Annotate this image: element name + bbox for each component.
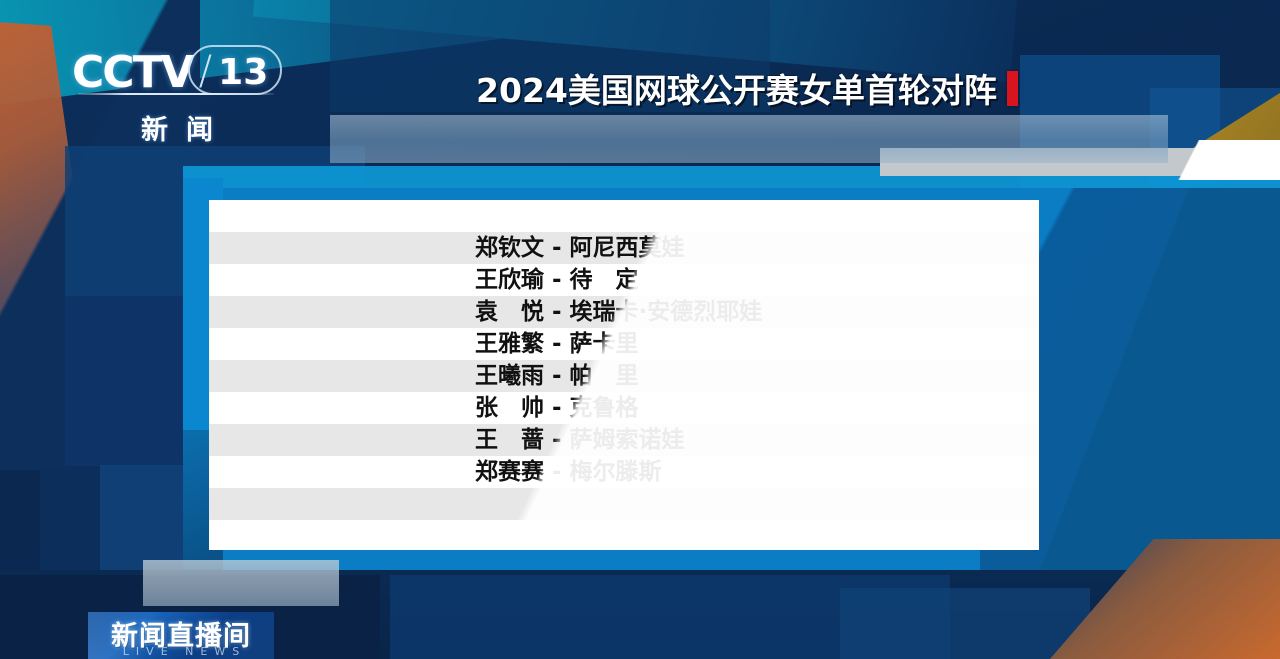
lower-left-plate (143, 560, 339, 606)
headline-accent-bar (1007, 71, 1018, 106)
card-stripe (209, 488, 1039, 520)
matchup-card: 郑钦文 - 阿尼西莫娃王欣瑜 - 待 定袁 悦 - 埃瑞卡·安德烈耶娃王雅繁 -… (209, 200, 1039, 550)
matchup-row: 袁 悦 - 埃瑞卡·安德烈耶娃 (475, 296, 762, 328)
broadcast-graphic: CCTV / 13 新闻 2024美国网球公开赛女单首轮对阵 郑钦文 - 阿尼西… (0, 0, 1280, 659)
matchup-list: 郑钦文 - 阿尼西莫娃王欣瑜 - 待 定袁 悦 - 埃瑞卡·安德烈耶娃王雅繁 -… (475, 232, 762, 488)
matchup-row: 王曦雨 - 帕 里 (475, 360, 762, 392)
headline-underbar (330, 115, 1168, 163)
cctv13-logo: CCTV / 13 新闻 (72, 47, 312, 147)
matchup-row: 王雅繁 - 萨卡里 (475, 328, 762, 360)
matchup-row: 王 蔷 - 萨姆索诺娃 (475, 424, 762, 456)
badge-title-en: LIVE NEWS (88, 645, 274, 658)
matchup-row: 张 帅 - 克鲁格 (475, 392, 762, 424)
logo-cctv-text: CCTV (72, 47, 193, 98)
matchup-row: 王欣瑜 - 待 定 (475, 264, 762, 296)
logo-subtitle: 新闻 (72, 108, 282, 147)
matchup-row: 郑赛赛 - 梅尔滕斯 (475, 456, 762, 488)
logo-oval-outline (188, 45, 282, 95)
headline-group: 2024美国网球公开赛女单首轮对阵 (476, 64, 1018, 112)
live-news-badge: 新闻直播间 LIVE NEWS (88, 612, 274, 659)
page-title: 2024美国网球公开赛女单首轮对阵 (476, 64, 997, 112)
lower-panel-b (840, 588, 1090, 659)
logo-underline (78, 93, 274, 95)
matchup-row: 郑钦文 - 阿尼西莫娃 (475, 232, 762, 264)
logo-mark: CCTV / 13 (72, 47, 312, 98)
